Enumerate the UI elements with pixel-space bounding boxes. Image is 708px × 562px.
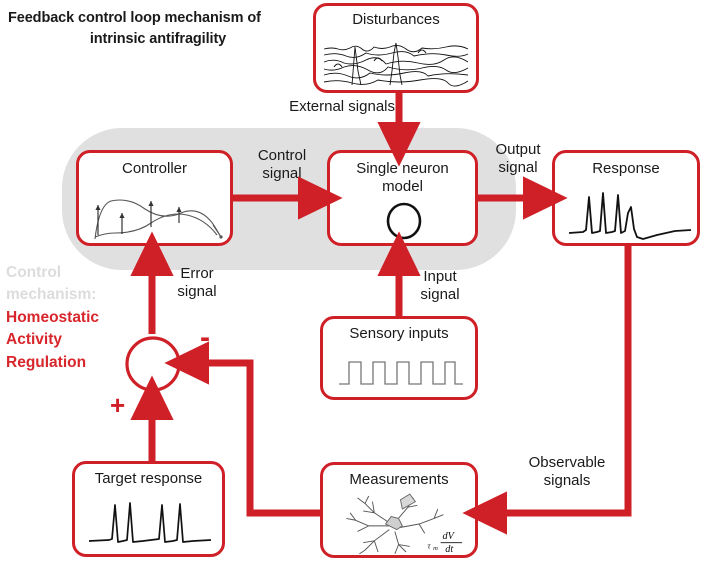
control-mechanism-prefix-line1: Control [6,262,99,284]
spike-train-burst-plot-icon [565,189,695,241]
box-target-response-label: Target response [75,470,222,488]
noisy-traces-plot-icon [322,40,472,88]
box-single-neuron-model-label-line1: Single neuron [330,160,475,178]
signal-label-input: Input signal [407,268,473,304]
page-title-line1: Feedback control loop mechanism of [8,8,308,29]
control-mechanism-name-line1: Homeostatic [6,307,99,329]
box-controller[interactable]: Controller [76,150,233,246]
page-title-line2: intrinsic antifragility [8,29,308,50]
box-sensory-inputs[interactable]: Sensory inputs [320,316,478,400]
summing-junction-minus-sign: - [200,323,210,353]
svg-text:τ: τ [428,541,432,550]
box-target-response[interactable]: Target response [72,461,225,557]
square-pulse-train-icon [335,353,465,391]
summing-junction-plus-sign: + [110,392,125,418]
box-controller-label: Controller [79,160,230,178]
svg-text:m: m [433,545,438,552]
signal-label-external: External signals [243,98,395,116]
control-mechanism-name-line3: Regulation [6,352,99,374]
box-sensory-inputs-label: Sensory inputs [323,325,475,343]
spike-train-plot-icon [85,498,215,550]
svg-text:dt: dt [445,544,454,555]
soma-circle-icon [384,201,424,241]
box-disturbances[interactable]: Disturbances [313,3,479,93]
diagram-canvas: Feedback control loop mechanism of intri… [0,0,708,562]
neuron-morphology-icon: τ m dV dt [337,491,477,557]
control-curve-plot-icon [89,187,229,245]
signal-label-output: Output signal [484,141,552,177]
svg-text:dV: dV [442,531,455,542]
box-measurements-label: Measurements [323,471,475,489]
box-single-neuron-model-label-line2: model [330,178,475,196]
summing-junction[interactable] [123,334,183,394]
control-mechanism-prefix-line2: mechanism: [6,284,99,306]
page-title: Feedback control loop mechanism of intri… [8,8,308,50]
signal-label-observable: Observable signals [513,454,621,490]
control-mechanism-name-line2: Activity [6,329,99,351]
signal-label-control: Control signal [240,147,324,183]
box-disturbances-label: Disturbances [316,11,476,29]
box-measurements[interactable]: Measurements τ m dV dt [320,462,478,558]
signal-label-error: Error signal [163,265,231,301]
box-response[interactable]: Response [552,150,700,246]
box-single-neuron-model[interactable]: Single neuron model [327,150,478,246]
control-mechanism-annotation: Control mechanism: Homeostatic Activity … [6,262,99,374]
box-response-label: Response [555,160,697,178]
